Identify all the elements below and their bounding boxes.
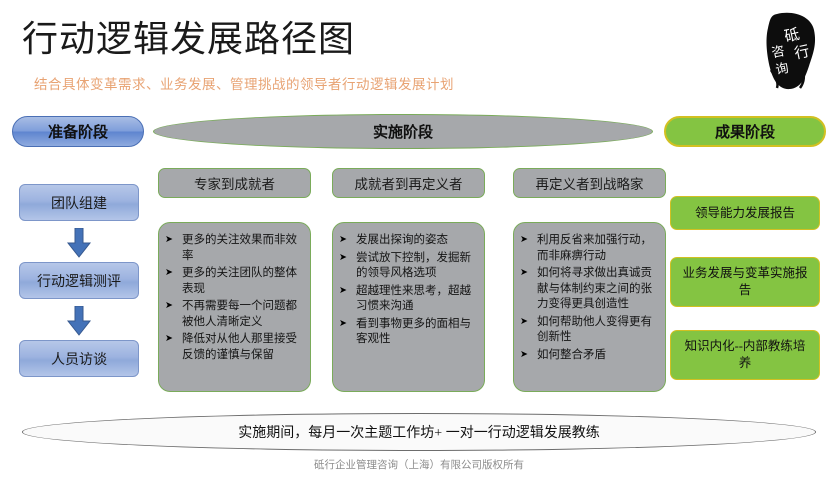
list-item: 如何帮助他人变得更有创新性 [520, 315, 659, 346]
bullet-list: 发展出探询的姿态 尝试放下控制，发掘新的领导风格选项 超越理性来思考，超越习惯来… [339, 233, 478, 348]
company-logo-icon: 砥 行 咨 询 [757, 10, 825, 92]
implementation-header-3[interactable]: 再定义者到战略家 [513, 168, 666, 198]
list-item: 尝试放下控制，发掘新的领导风格选项 [339, 251, 478, 282]
bottom-banner: 实施期间，每月一次主题工作坊+ 一对一行动逻辑发展教练 [22, 413, 816, 451]
list-item: 降低对从他人那里接受反馈的谨慎与保留 [165, 332, 304, 363]
implementation-header-1[interactable]: 专家到成就者 [158, 168, 311, 198]
phase-pill-preparation[interactable]: 准备阶段 [12, 116, 144, 147]
list-item: 更多的关注效果而非效率 [165, 233, 304, 264]
list-item: 发展出探询的姿态 [339, 233, 478, 249]
arrow-down-icon [66, 228, 92, 258]
preparation-step-1[interactable]: 团队组建 [19, 184, 139, 221]
implementation-body-2: 发展出探询的姿态 尝试放下控制，发掘新的领导风格选项 超越理性来思考，超越习惯来… [332, 222, 485, 392]
bullet-list: 更多的关注效果而非效率 更多的关注团队的整体表现 不再需要每一个问题都被他人清晰… [165, 233, 304, 363]
list-item: 利用反省来加强行动，而非麻痹行动 [520, 233, 659, 264]
list-item: 看到事物更多的面相与客观性 [339, 317, 478, 348]
page-title: 行动逻辑发展路径图 [22, 16, 355, 62]
footer-copyright: 砥行企业管理咨询（上海）有限公司版权所有 [0, 457, 838, 472]
preparation-step-2[interactable]: 行动逻辑测评 [19, 262, 139, 299]
arrow-down-icon [66, 306, 92, 336]
preparation-step-3[interactable]: 人员访谈 [19, 340, 139, 377]
implementation-body-1: 更多的关注效果而非效率 更多的关注团队的整体表现 不再需要每一个问题都被他人清晰… [158, 222, 311, 392]
list-item: 不再需要每一个问题都被他人清晰定义 [165, 299, 304, 330]
result-item-1[interactable]: 领导能力发展报告 [670, 196, 820, 230]
page-subtitle: 结合具体变革需求、业务发展、管理挑战的领导者行动逻辑发展计划 [34, 76, 454, 94]
slide-canvas: 行动逻辑发展路径图 结合具体变革需求、业务发展、管理挑战的领导者行动逻辑发展计划… [0, 0, 838, 480]
implementation-body-3: 利用反省来加强行动，而非麻痹行动 如何将寻求做出真诚贡献与体制约束之间的张力变得… [513, 222, 666, 392]
list-item: 如何将寻求做出真诚贡献与体制约束之间的张力变得更具创造性 [520, 266, 659, 313]
list-item: 如何整合矛盾 [520, 348, 659, 364]
list-item: 更多的关注团队的整体表现 [165, 266, 304, 297]
result-item-3[interactable]: 知识内化--内部教练培养 [670, 330, 820, 380]
result-item-2[interactable]: 业务发展与变革实施报告 [670, 257, 820, 307]
list-item: 超越理性来思考，超越习惯来沟通 [339, 284, 478, 315]
phase-pill-implementation[interactable]: 实施阶段 [153, 114, 653, 149]
implementation-header-2[interactable]: 成就者到再定义者 [332, 168, 485, 198]
bullet-list: 利用反省来加强行动，而非麻痹行动 如何将寻求做出真诚贡献与体制约束之间的张力变得… [520, 233, 659, 363]
phase-pill-result[interactable]: 成果阶段 [664, 116, 826, 147]
